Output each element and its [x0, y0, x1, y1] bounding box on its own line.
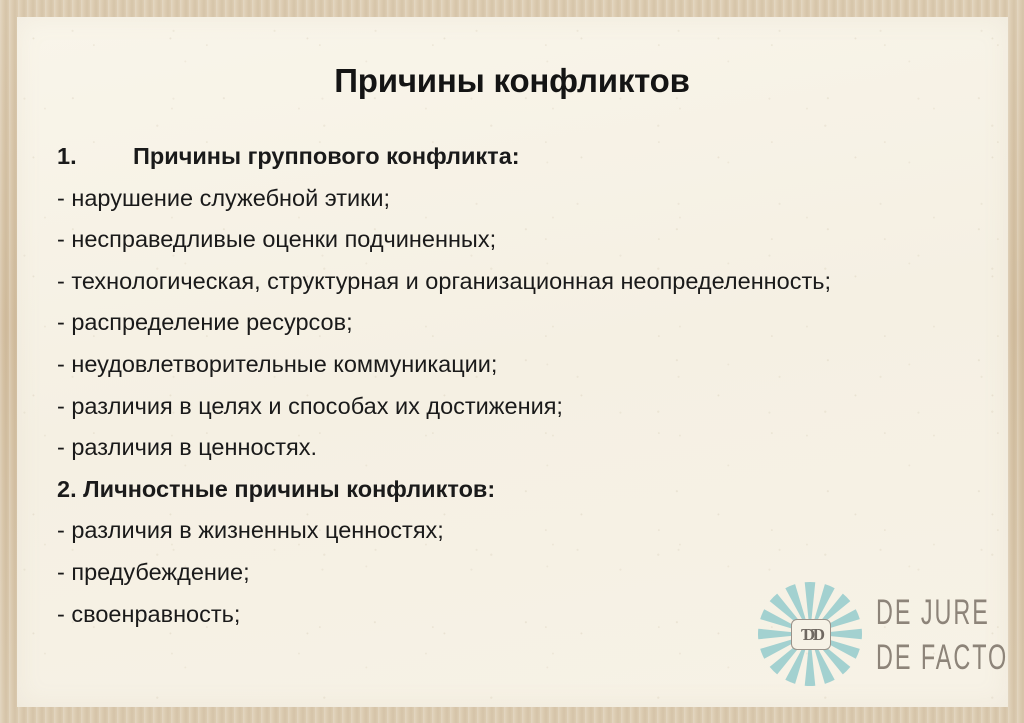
- list-item-number: 1.: [57, 136, 133, 178]
- list-item: - нарушение служебной этики;: [57, 178, 984, 220]
- list-item: - различия в ценностях.: [57, 427, 984, 469]
- list-item: - неудовлетворительные коммуникации;: [57, 344, 984, 386]
- content-list: 1.Причины группового конфликта: - наруше…: [57, 136, 984, 635]
- presentation-slide: Причины конфликтов 1.Причины группового …: [0, 0, 1024, 723]
- brand-wordmark-line-2: DE FACTO: [876, 631, 1008, 684]
- brand-wordmark: DE JURE DE FACTO: [876, 586, 1024, 676]
- list-item: 1.Причины группового конфликта:: [57, 136, 984, 178]
- list-item: - различия в жизненных ценностях;: [57, 510, 984, 552]
- list-item: - распределение ресурсов;: [57, 302, 984, 344]
- list-item-label: Причины группового конфликта:: [133, 143, 520, 169]
- list-item: - различия в целях и способах их достиже…: [57, 386, 984, 428]
- page-title: Причины конфликтов: [0, 62, 1024, 100]
- brand-logo: ƊƊ DE JURE DE FACTO: [758, 578, 998, 686]
- list-item: - технологическая, структурная и организ…: [57, 261, 984, 303]
- list-item: 2. Личностные причины конфликтов:: [57, 469, 984, 511]
- monogram-badge: ƊƊ: [791, 619, 831, 650]
- list-item: - несправедливые оценки подчиненных;: [57, 219, 984, 261]
